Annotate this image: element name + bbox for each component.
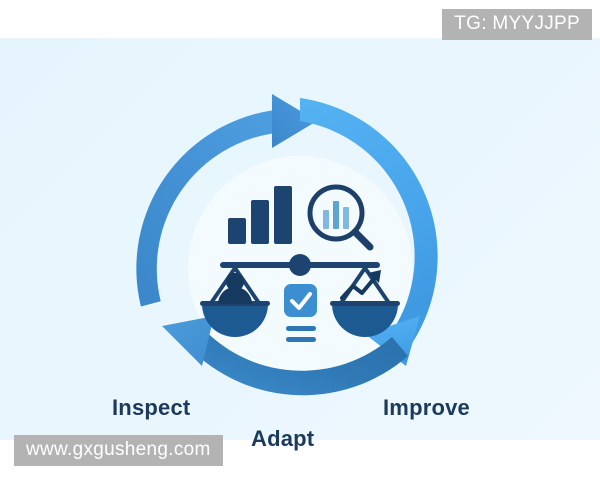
- equals-lines-icon: [286, 326, 316, 342]
- central-icon-cluster: [190, 176, 410, 376]
- stage-label-improve: Improve: [383, 395, 470, 421]
- stage-label-inspect: Inspect: [112, 395, 190, 421]
- watermark-top: TG: MYYJJPP: [442, 9, 592, 40]
- stage-label-adapt: Adapt: [251, 426, 314, 452]
- infographic-panel: Inspect Adapt Improve: [0, 38, 600, 440]
- magnifier-icon: [310, 187, 370, 247]
- bar-chart-icon: [228, 186, 292, 244]
- check-badge-icon: [284, 284, 317, 317]
- infographic-canvas: Inspect Adapt Improve TG: MYYJJPP www.gx…: [0, 0, 600, 480]
- watermark-bottom: www.gxgusheng.com: [14, 435, 223, 466]
